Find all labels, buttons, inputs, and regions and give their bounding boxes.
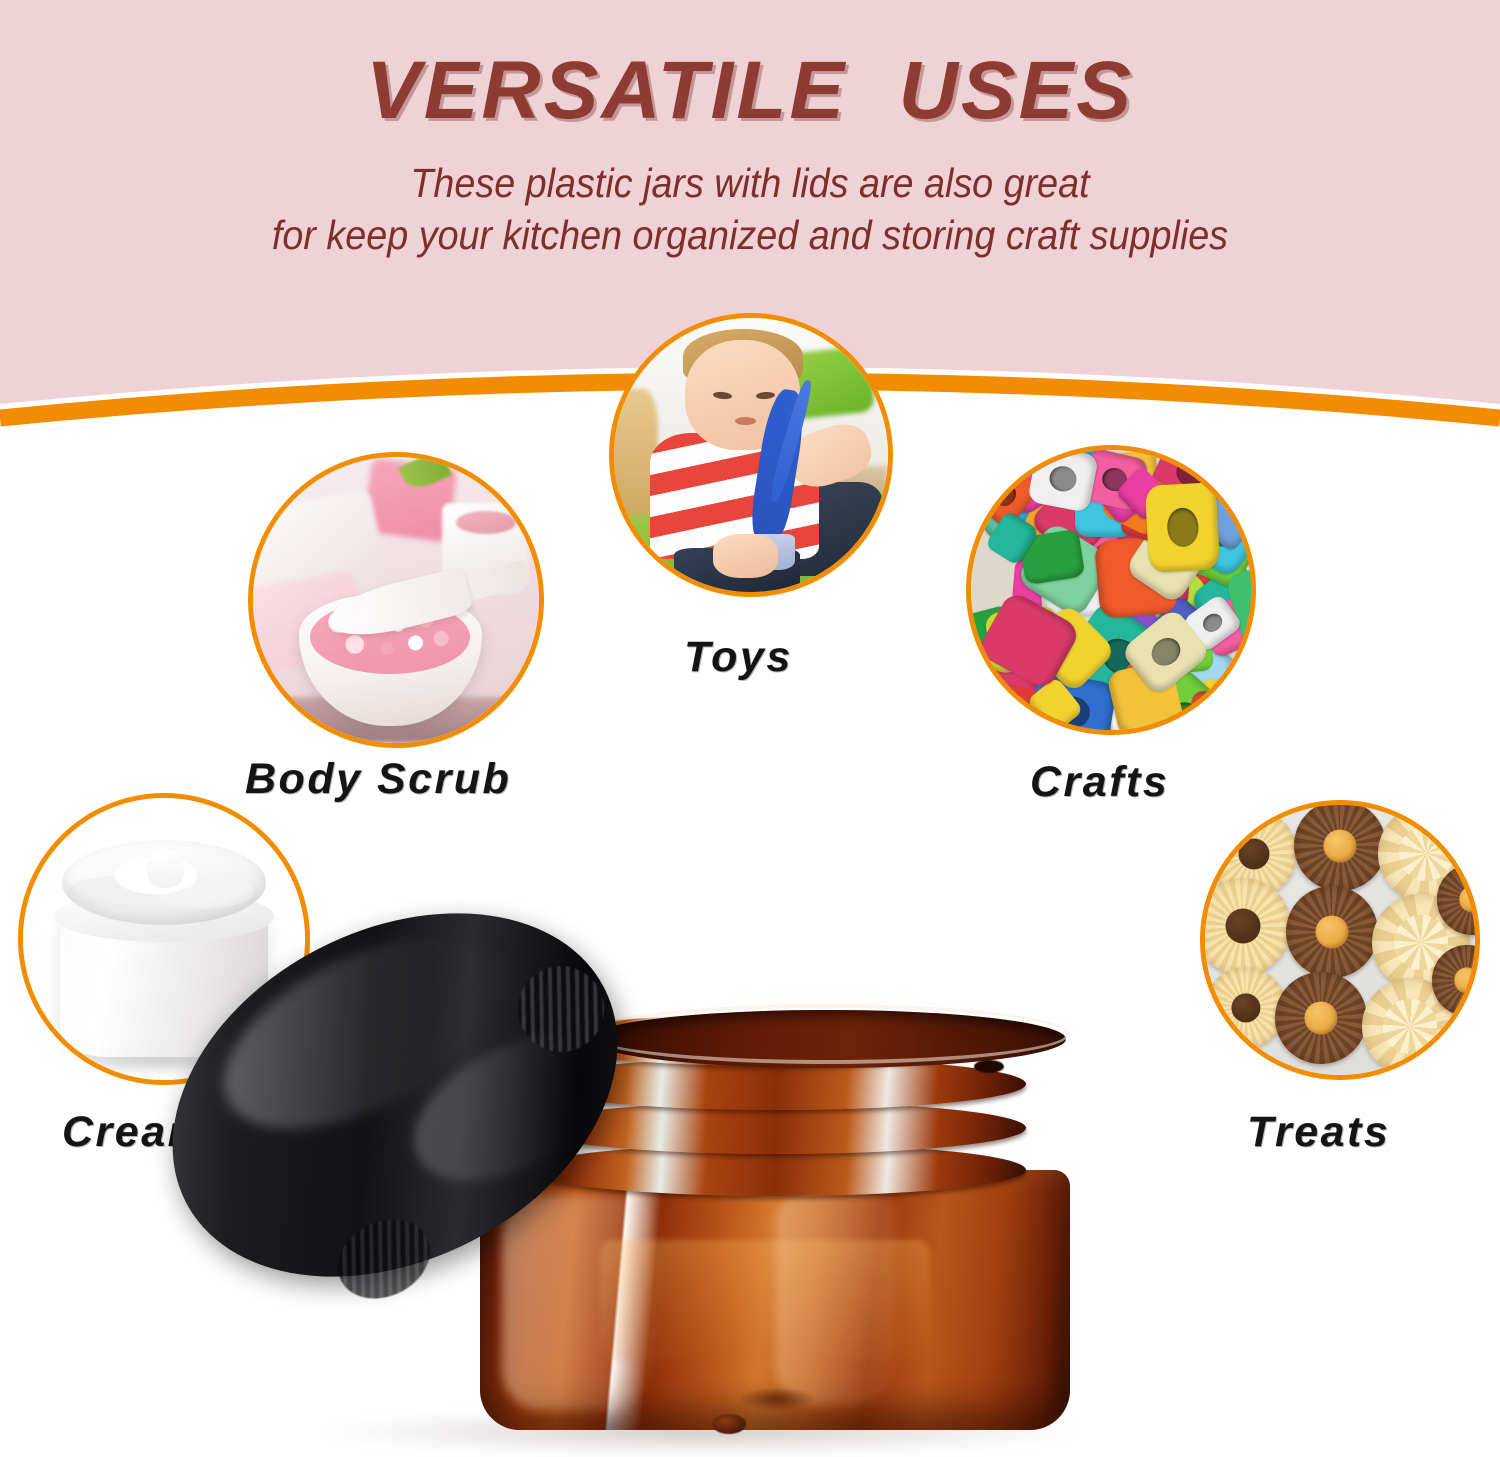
page-title: VERSATILE USES <box>0 44 1500 138</box>
use-case-image-crafts <box>966 445 1256 735</box>
crafts-photo <box>971 450 1251 730</box>
toys-photo <box>614 318 888 592</box>
treats-photo <box>1205 805 1475 1075</box>
craft-bead <box>1145 482 1221 572</box>
use-case-image-treats <box>1200 800 1480 1080</box>
body-scrub-photo <box>253 457 539 743</box>
versatile-uses-infographic: VERSATILE USES These plastic jars with l… <box>0 0 1500 1457</box>
use-case-label-toys: Toys <box>684 633 793 682</box>
use-case-label-body-scrub: Body Scrub <box>245 755 511 804</box>
use-case-label-crafts: Crafts <box>1030 758 1169 807</box>
product-image-amber-jar-with-black-lid <box>150 930 1170 1450</box>
use-case-label-treats: Treats <box>1247 1108 1390 1157</box>
use-case-image-body-scrub <box>248 452 544 748</box>
craft-bead <box>1027 445 1098 513</box>
subtitle-line-1: These plastic jars with lids are also gr… <box>60 155 1440 211</box>
subtitle-line-2: for keep your kitchen organized and stor… <box>60 207 1440 263</box>
use-case-image-toys <box>609 313 893 597</box>
craft-bead <box>1190 691 1243 735</box>
black-screw-lid <box>160 930 630 1350</box>
